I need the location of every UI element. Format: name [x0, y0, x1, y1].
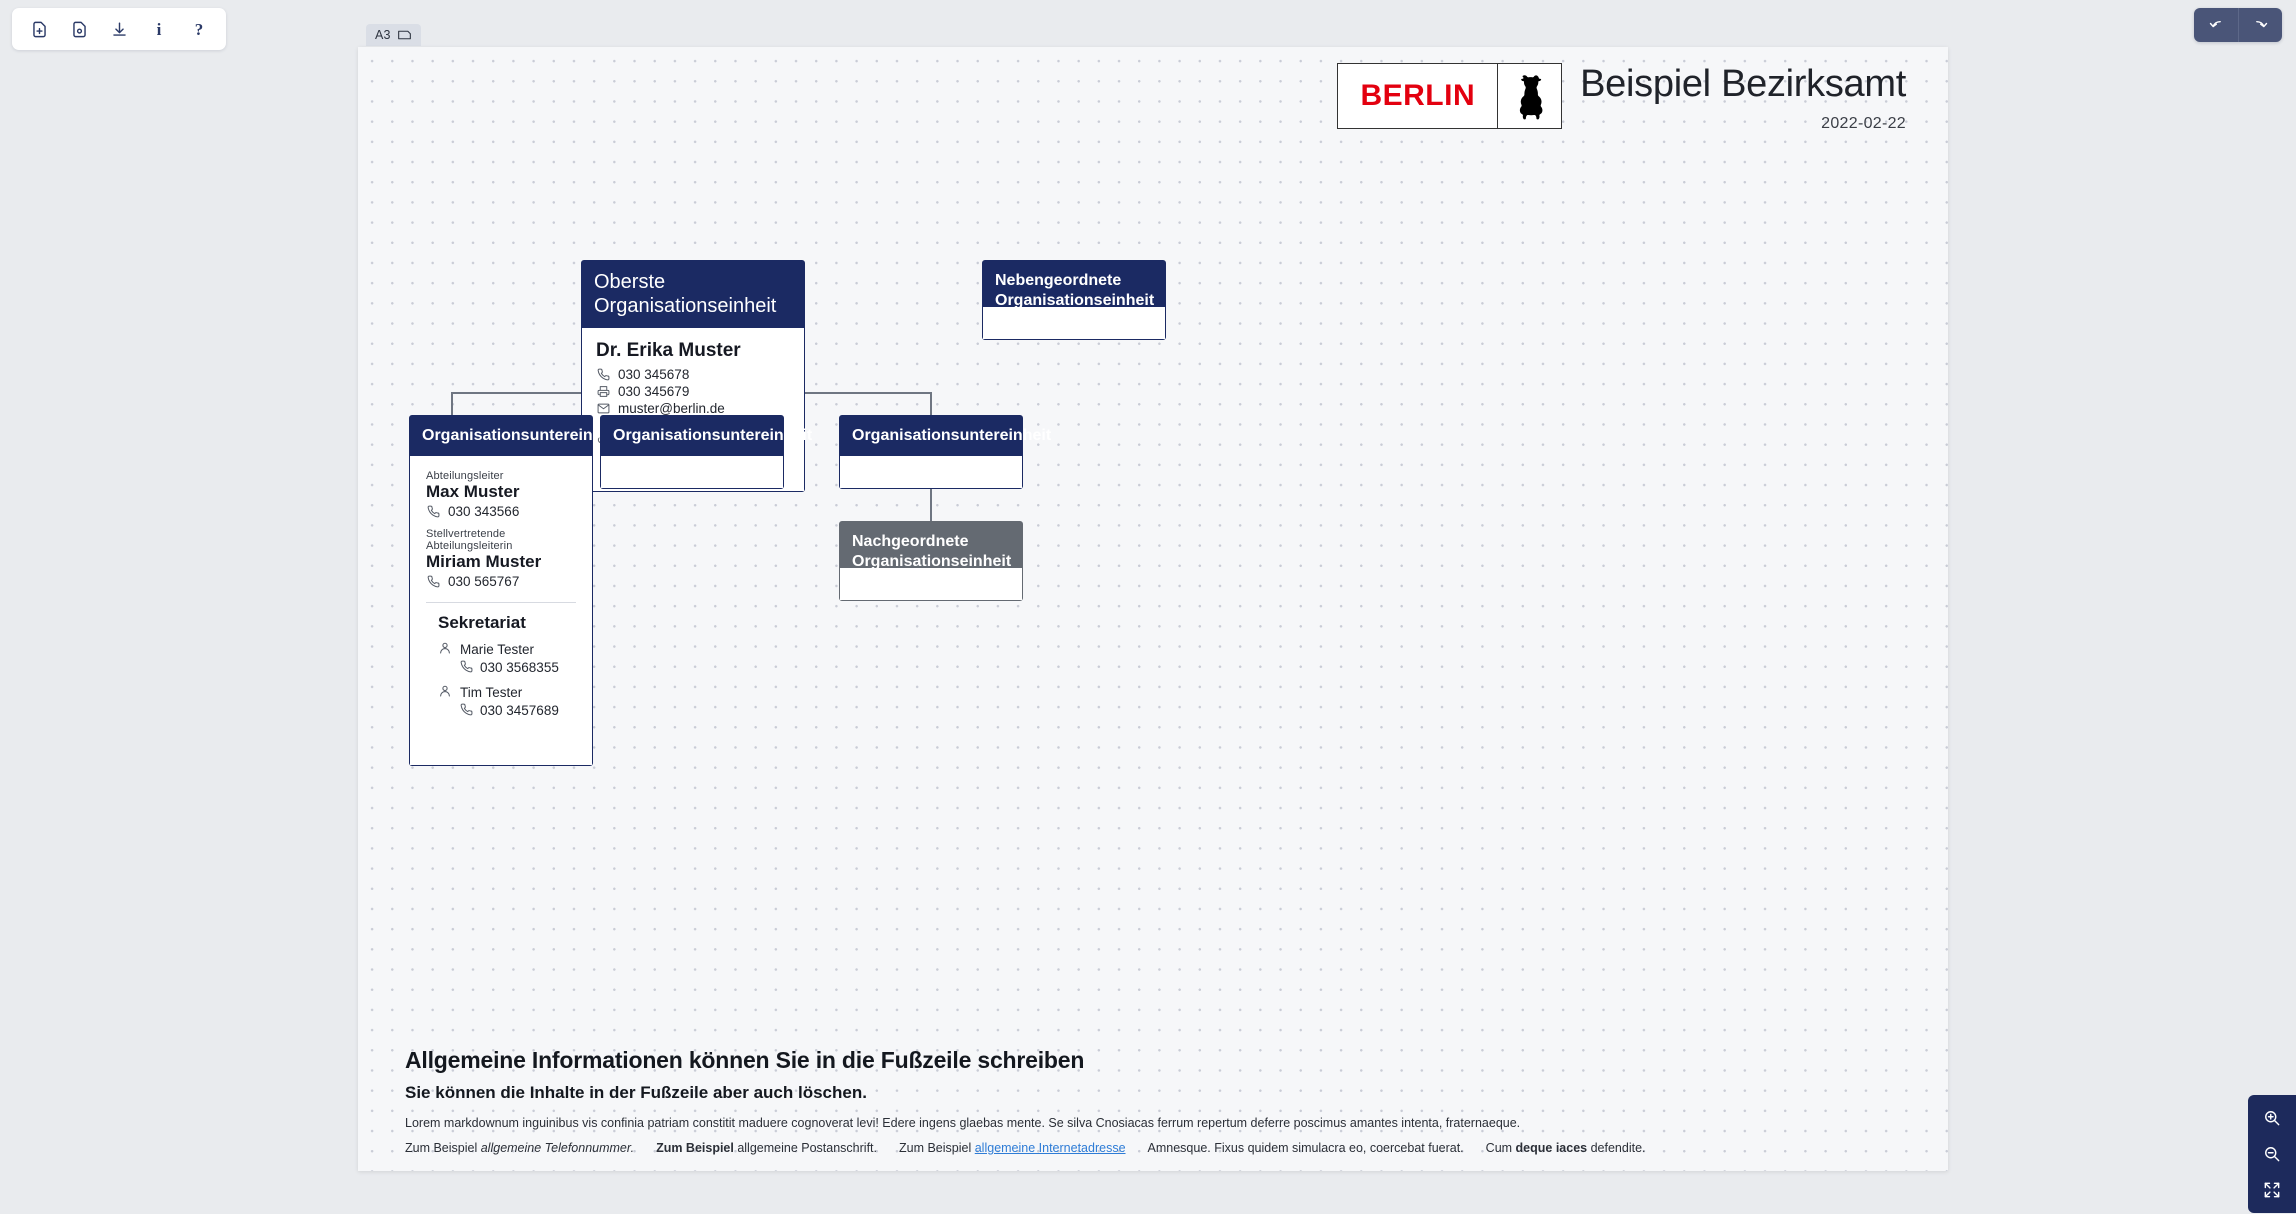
- info-glyph: i: [157, 21, 162, 38]
- member-phone: 030 3568355: [460, 660, 576, 676]
- download-icon[interactable]: [100, 12, 138, 46]
- zoom-in-icon[interactable]: [2252, 1101, 2292, 1135]
- org-node-header: Oberste Organisationseinheit: [582, 261, 804, 328]
- member-name: Marie Tester: [460, 642, 534, 657]
- org-node-header: Organisationsuntereinheit: [410, 416, 592, 456]
- berlin-bear-icon: [1497, 64, 1561, 128]
- meta1-emphasis: allgemeine Telefonnummer.: [481, 1141, 634, 1155]
- secretariat-member: Marie Tester 030 3568355: [438, 641, 576, 676]
- contact-fax-value: 030 345679: [618, 384, 689, 399]
- staff-phone-value: 030 343566: [448, 504, 519, 519]
- page-landscape-icon: [397, 29, 412, 41]
- org-node-body: [983, 307, 1165, 339]
- org-node-body: Abteilungsleiter Max Muster 030 343566 S…: [410, 456, 592, 765]
- connector-branch-right: [930, 392, 932, 415]
- connector-subordinate: [930, 483, 932, 521]
- phone-icon: [596, 367, 611, 382]
- meta1-prefix: Zum Beispiel: [405, 1141, 481, 1155]
- staff-phone: 030 343566: [426, 504, 576, 519]
- member-phone-value: 030 3568355: [480, 660, 559, 675]
- org-node-header: Organisationsuntereinheit: [840, 416, 1022, 456]
- staff-entry: Stellvertretende Abteilungsleiterin Miri…: [426, 528, 576, 589]
- footer-meta-item-5: Cum deque iaces defendite.: [1486, 1141, 1646, 1155]
- mail-icon: [596, 401, 611, 416]
- footer-meta-row: Zum Beispiel allgemeine Telefonnummer. Z…: [405, 1141, 1905, 1155]
- contact-fax: 030 345679: [596, 384, 790, 399]
- page-title: Beispiel Bezirksamt: [1580, 63, 1906, 107]
- org-node-body: [840, 456, 1022, 488]
- contact-phone-value: 030 345678: [618, 367, 689, 382]
- main-toolbar: i ?: [12, 8, 226, 50]
- fax-icon: [596, 384, 611, 399]
- connector-branch-left: [451, 392, 453, 415]
- org-node-header: Nebengeordnete Organisationseinheit: [983, 261, 1165, 307]
- document-title-block: Beispiel Bezirksamt 2022-02-22: [1580, 63, 1906, 133]
- staff-name: Miriam Muster: [426, 552, 576, 572]
- staff-phone: 030 565767: [426, 574, 576, 589]
- zoom-controls: [2248, 1095, 2296, 1213]
- org-node-body: [840, 568, 1022, 600]
- history-controls: [2194, 8, 2282, 42]
- meta5-prefix: Cum: [1486, 1141, 1516, 1155]
- org-node-body: [601, 456, 783, 488]
- member-name: Tim Tester: [460, 685, 522, 700]
- staff-role: Stellvertretende Abteilungsleiterin: [426, 528, 576, 552]
- phone-icon: [460, 660, 473, 676]
- footer-subheading: Sie können die Inhalte in der Fußzeile a…: [405, 1083, 1905, 1103]
- undo-icon[interactable]: [2194, 8, 2238, 42]
- org-node-adjacent-unit[interactable]: Nebengeordnete Organisationseinheit: [982, 260, 1166, 340]
- footer-meta-item-4: Amnesque. Fixus quidem simulacra eo, coe…: [1148, 1141, 1464, 1155]
- meta5-bold: deque iaces: [1516, 1141, 1588, 1155]
- berlin-wordmark: BERLIN: [1338, 64, 1497, 128]
- staff-name: Max Muster: [426, 482, 576, 502]
- meta3-prefix: Zum Beispiel: [899, 1141, 975, 1155]
- phone-icon: [460, 703, 473, 719]
- zoom-out-icon[interactable]: [2252, 1137, 2292, 1171]
- help-icon[interactable]: ?: [180, 12, 218, 46]
- contact-mail: muster@berlin.de: [596, 401, 790, 416]
- document-footer: Allgemeine Informationen können Sie in d…: [405, 1047, 1905, 1155]
- fit-screen-icon[interactable]: [2252, 1173, 2292, 1207]
- member-phone: 030 3457689: [460, 703, 576, 719]
- person-icon: [438, 641, 452, 658]
- phone-icon: [426, 574, 441, 589]
- member-row: Tim Tester: [438, 684, 576, 701]
- section-divider: [426, 602, 576, 603]
- member-phone-value: 030 3457689: [480, 703, 559, 718]
- page-size-chip[interactable]: A3: [366, 24, 421, 46]
- contact-phone: 030 345678: [596, 367, 790, 382]
- secretariat-title: Sekretariat: [438, 613, 576, 633]
- contact-mail-value: muster@berlin.de: [618, 401, 725, 416]
- person-icon: [438, 684, 452, 701]
- page-size-label: A3: [375, 28, 391, 42]
- help-glyph: ?: [195, 21, 204, 38]
- org-node-subordinate-unit[interactable]: Nachgeordnete Organisationseinheit: [839, 521, 1023, 601]
- new-document-icon[interactable]: [20, 12, 58, 46]
- footer-meta-item-2: Zum Beispiel allgemeine Postanschrift.: [656, 1141, 877, 1155]
- open-document-icon[interactable]: [60, 12, 98, 46]
- meta5-suffix: defendite.: [1587, 1141, 1645, 1155]
- info-icon[interactable]: i: [140, 12, 178, 46]
- document-header: BERLIN Beispiel Bezirksamt 2022-02-22: [1337, 63, 1906, 133]
- footer-heading: Allgemeine Informationen können Sie in d…: [405, 1047, 1905, 1074]
- secretariat-member: Tim Tester 030 3457689: [438, 684, 576, 719]
- general-internet-address-link[interactable]: allgemeine Internetadresse: [975, 1141, 1126, 1155]
- footer-meta-item-1: Zum Beispiel allgemeine Telefonnummer.: [405, 1141, 634, 1155]
- org-node-header: Nachgeordnete Organisationseinheit: [840, 522, 1022, 568]
- meta2-bold: Zum Beispiel: [656, 1141, 734, 1155]
- org-node-sub-unit-1[interactable]: Organisationsuntereinheit Abteilungsleit…: [409, 415, 593, 766]
- staff-role: Abteilungsleiter: [426, 470, 576, 482]
- staff-entry: Abteilungsleiter Max Muster 030 343566: [426, 470, 576, 519]
- phone-icon: [426, 504, 441, 519]
- org-node-sub-unit-2[interactable]: Organisationsuntereinheit: [600, 415, 784, 489]
- secretariat-section: Sekretariat Marie Tester 03: [426, 613, 576, 719]
- app-root: i ? A3: [0, 0, 2296, 1214]
- footer-paragraph: Lorem markdownum inguinibus vis confinia…: [405, 1114, 1905, 1132]
- berlin-logo: BERLIN: [1337, 63, 1562, 129]
- meta2-rest: allgemeine Postanschrift.: [734, 1141, 877, 1155]
- org-node-sub-unit-3[interactable]: Organisationsuntereinheit: [839, 415, 1023, 489]
- staff-phone-value: 030 565767: [448, 574, 519, 589]
- footer-meta-item-3: Zum Beispiel allgemeine Internetadresse: [899, 1141, 1126, 1155]
- document-canvas[interactable]: BERLIN Beispiel Bezirksamt 2022-02-22 Ob…: [358, 47, 1948, 1171]
- top-unit-person-name: Dr. Erika Muster: [596, 340, 790, 362]
- redo-icon[interactable]: [2238, 8, 2282, 42]
- member-row: Marie Tester: [438, 641, 576, 658]
- document-date: 2022-02-22: [1821, 115, 1906, 133]
- org-node-header: Organisationsuntereinheit: [601, 416, 783, 456]
